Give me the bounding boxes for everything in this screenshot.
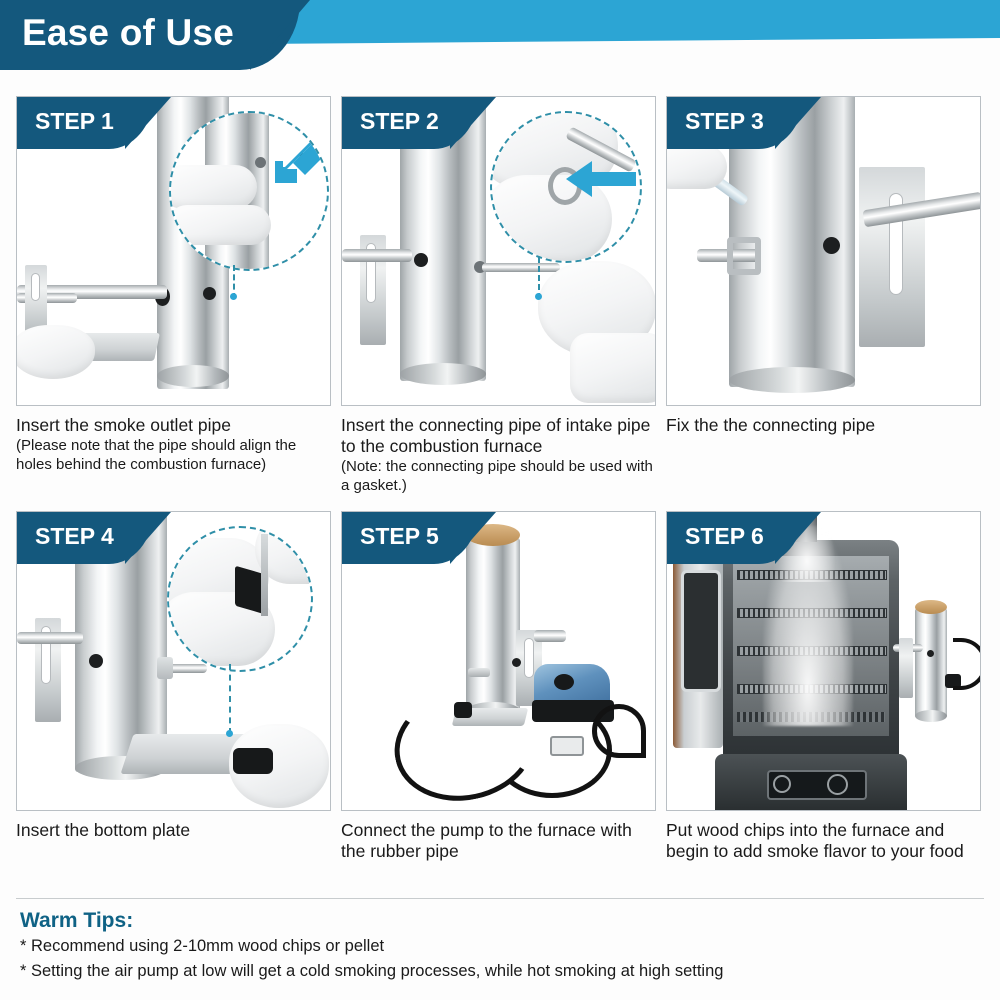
- step-image-1: STEP 1: [16, 96, 331, 406]
- warm-tips-line-2: * Setting the air pump at low will get a…: [20, 959, 980, 984]
- step-caption-1: Insert the smoke outlet pipe (Please not…: [16, 406, 331, 474]
- step-badge-label: STEP 2: [360, 108, 439, 135]
- page-title: Ease of Use: [22, 12, 234, 54]
- steps-grid: STEP 1 Insert the smoke outlet pipe (Ple…: [16, 96, 984, 862]
- step-badge-label: STEP 1: [35, 108, 114, 135]
- step-cell-4: STEP 4 Insert the bottom plate: [16, 511, 333, 862]
- step-cell-2: STEP 2 Insert the connecting pipe of int…: [341, 96, 658, 495]
- magnifier-inset-4: [167, 526, 313, 672]
- step-caption-main: Fix the the connecting pipe: [666, 415, 981, 436]
- step-cell-5: STEP 5 Connect the pump to the furnace w…: [341, 511, 658, 862]
- step-caption-main: Connect the pump to the furnace with the…: [341, 820, 656, 862]
- step-image-5: STEP 5: [341, 511, 656, 811]
- step-badge-label: STEP 3: [685, 108, 764, 135]
- step-caption-sub: (Note: the connecting pipe should be use…: [341, 457, 656, 495]
- step-caption-main: Insert the bottom plate: [16, 820, 331, 841]
- step-image-2: STEP 2: [341, 96, 656, 406]
- footer-divider: [16, 898, 984, 899]
- step-badge-label: STEP 6: [685, 523, 764, 550]
- power-plug: [550, 736, 584, 756]
- magnifier-inset-1: [169, 111, 329, 271]
- blue-arrow-icon-1: [257, 135, 321, 187]
- page-header: Ease of Use: [0, 0, 1000, 80]
- step-caption-3: Fix the the connecting pipe: [666, 406, 981, 436]
- steps-row-bottom: STEP 4 Insert the bottom plate: [16, 511, 984, 862]
- step-cell-1: STEP 1 Insert the smoke outlet pipe (Ple…: [16, 96, 333, 495]
- step-caption-main: Put wood chips into the furnace and begi…: [666, 820, 981, 862]
- step-caption-main: Insert the connecting pipe of intake pip…: [341, 415, 656, 457]
- warm-tips-title: Warm Tips:: [20, 908, 980, 934]
- steps-row-top: STEP 1 Insert the smoke outlet pipe (Ple…: [16, 96, 984, 495]
- step-caption-2: Insert the connecting pipe of intake pip…: [341, 406, 656, 495]
- step-caption-4: Insert the bottom plate: [16, 811, 331, 841]
- warm-tips-line-1: * Recommend using 2-10mm wood chips or p…: [20, 934, 980, 959]
- ease-of-use-infographic: Ease of Use: [0, 0, 1000, 1000]
- magnifier-inset-2: [490, 111, 642, 263]
- step-badge-label: STEP 4: [35, 523, 114, 550]
- step-cell-6: STEP 6 Put wood chips into the furnace a…: [666, 511, 983, 862]
- step-badge-label: STEP 5: [360, 523, 439, 550]
- step-image-6: STEP 6: [666, 511, 981, 811]
- step-caption-main: Insert the smoke outlet pipe: [16, 415, 331, 436]
- blue-arrow-icon-2: [566, 159, 636, 199]
- step-caption-5: Connect the pump to the furnace with the…: [341, 811, 656, 862]
- pump-knob: [554, 674, 574, 690]
- step-caption-6: Put wood chips into the furnace and begi…: [666, 811, 981, 862]
- warm-tips-section: Warm Tips: * Recommend using 2-10mm wood…: [20, 908, 980, 984]
- step-image-3: STEP 3: [666, 96, 981, 406]
- step-cell-3: STEP 3 Fix the the connecting pipe: [666, 96, 983, 495]
- step-image-4: STEP 4: [16, 511, 331, 811]
- step-caption-sub: (Please note that the pipe should align …: [16, 436, 331, 474]
